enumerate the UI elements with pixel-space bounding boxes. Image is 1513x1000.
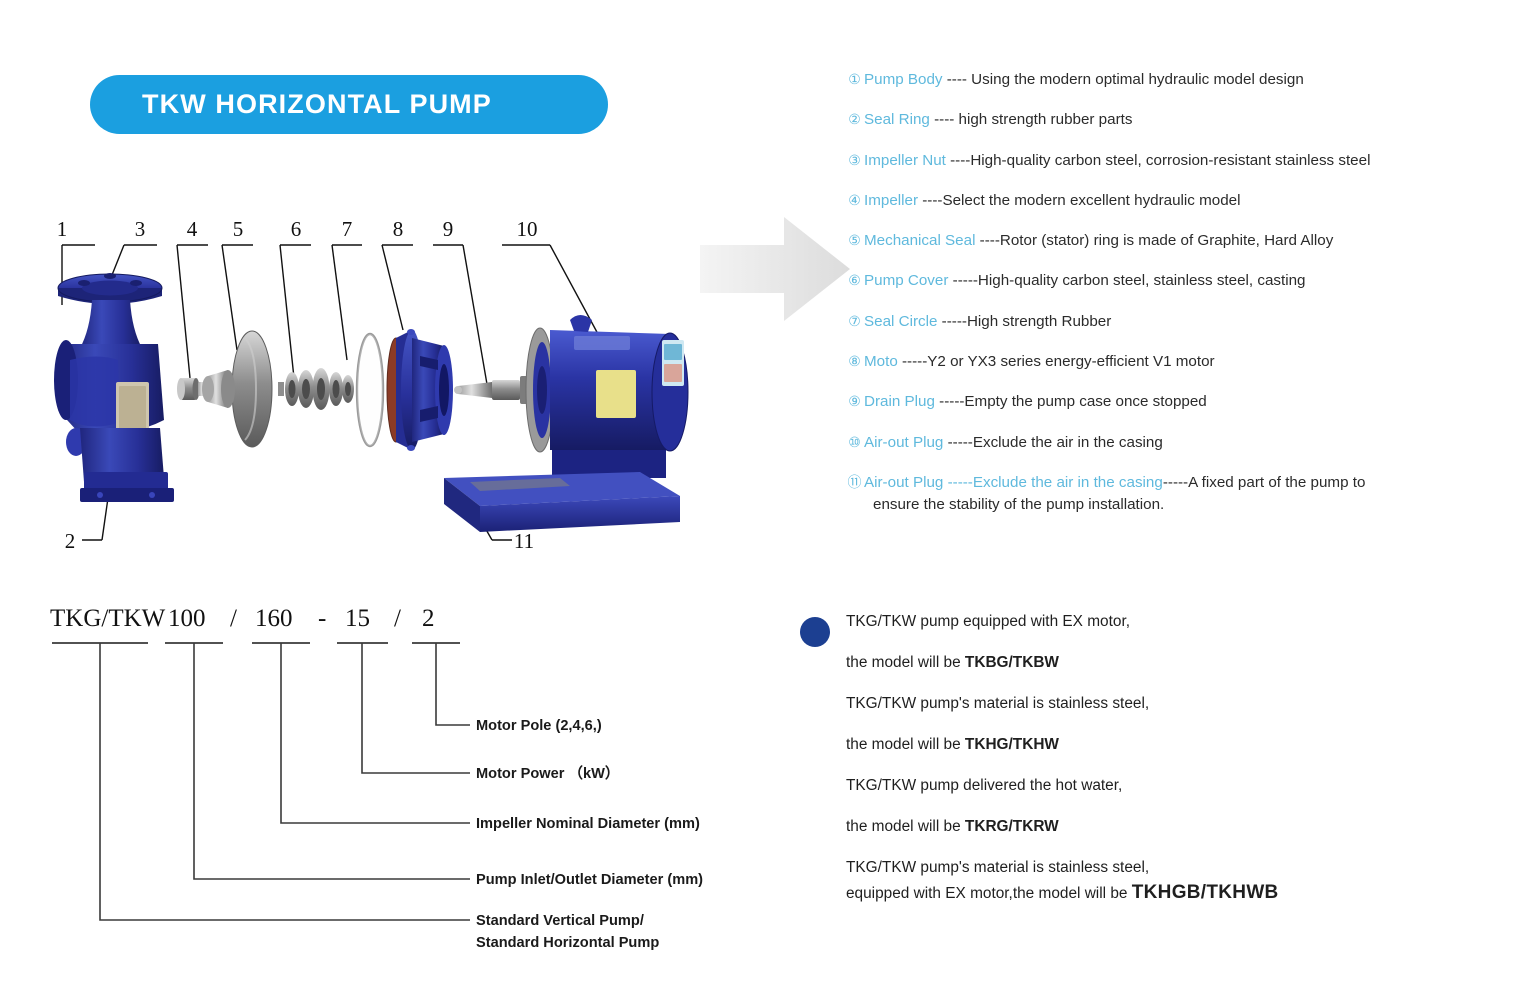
mechanical-seal-part: [278, 368, 354, 410]
pump-cover-part: [387, 329, 453, 451]
model-token-pole: 2: [422, 605, 435, 632]
legend-item: ⑦Seal Circle -----High strength Rubber: [845, 312, 1505, 331]
legend-part-desc: -----High strength Rubber: [937, 313, 1111, 330]
legend-part-desc: -----High-quality carbon steel, stainles…: [948, 272, 1305, 289]
legend-item: ⑪Air-out Plug -----Exclude the air in th…: [845, 473, 1505, 514]
note-text: TKG/TKW pump's material is stainless ste…: [846, 859, 1149, 876]
model-variants-notes: TKG/TKW pump equipped with EX motor, the…: [800, 612, 1440, 903]
legend-part-desc: ----Rotor (stator) ring is made of Graph…: [975, 232, 1333, 249]
legend-part-name: Impeller Nut: [864, 152, 946, 169]
legend-number: ⑩: [845, 433, 864, 452]
legend-item: ⑤Mechanical Seal ----Rotor (stator) ring…: [845, 231, 1505, 250]
model-label-motor-pole: Motor Pole (2,4,6,): [476, 718, 602, 734]
model-label-inlet-diameter: Pump Inlet/Outlet Diameter (mm): [476, 872, 703, 888]
page-title-banner: TKW HORIZONTAL PUMP: [90, 75, 608, 134]
callout-label-2: 2: [65, 529, 76, 553]
callout-label-7: 7: [342, 217, 353, 241]
callout-4: [177, 245, 208, 378]
legend-item: ④Impeller ----Select the modern excellen…: [845, 191, 1505, 210]
model-label-standard-pump-1: Standard Vertical Pump/: [476, 913, 644, 929]
legend-part-desc: ----High-quality carbon steel, corrosion…: [946, 152, 1371, 169]
model-token-slash2: /: [394, 605, 401, 632]
legend-part-name: Drain Plug: [864, 393, 935, 410]
model-code-breakdown: TKG/TKW 100 / 160 - 15 / 2: [40, 598, 740, 968]
model-token-power: 15: [345, 605, 370, 632]
callout-6: [280, 245, 311, 378]
legend-number: ④: [845, 191, 864, 210]
legend-part-desc: ---- Using the modern optimal hydraulic …: [943, 71, 1304, 88]
note-line: TKG/TKW pump delivered the hot water,: [846, 776, 1440, 795]
legend-item: ⑩Air-out Plug -----Exclude the air in th…: [845, 433, 1505, 452]
note-text: TKG/TKW pump's material is stainless ste…: [846, 695, 1149, 712]
model-code-leaders: [100, 643, 470, 920]
callout-label-1: 1: [57, 217, 68, 241]
right-arrow-icon: [700, 213, 852, 325]
model-token-impeller: 160: [255, 605, 293, 632]
callout-label-9: 9: [443, 217, 454, 241]
note-line: the model will be TKBG/TKBW: [846, 653, 1440, 672]
notes-body: TKG/TKW pump equipped with EX motor, the…: [846, 612, 1440, 903]
note-line: the model will be TKHG/TKHW: [846, 735, 1440, 754]
legend-part-name: Air-out Plug: [864, 434, 943, 451]
legend-number: ①: [845, 70, 864, 89]
exploded-pump-diagram: 1 3 4 5 6 7 8: [40, 210, 700, 560]
legend-part-name: Pump Body: [864, 71, 943, 88]
legend-item: ②Seal Ring ---- high strength rubber par…: [845, 110, 1505, 129]
note-text: the model will be: [846, 736, 965, 753]
legend-part-name: Moto: [864, 353, 898, 370]
model-label-motor-power: Motor Power （kW）: [476, 764, 620, 782]
legend-number: ⑤: [845, 231, 864, 250]
legend-number: ⑦: [845, 312, 864, 331]
note-line: equipped with EX motor,the model will be…: [846, 883, 1440, 903]
legend-part-name: Seal Circle: [864, 313, 937, 330]
note-text: TKG/TKW pump equipped with EX motor,: [846, 613, 1130, 630]
seal-circle-part: [357, 334, 383, 446]
model-token-slash1: /: [230, 605, 237, 632]
callout-label-8: 8: [393, 217, 404, 241]
note-line: the model will be TKRG/TKRW: [846, 817, 1440, 836]
legend-part-name: Mechanical Seal: [864, 232, 975, 249]
legend-item: ⑥Pump Cover -----High-quality carbon ste…: [845, 271, 1505, 290]
note-model-name: TKRG/TKRW: [965, 818, 1059, 835]
legend-number: ⑨: [845, 392, 864, 411]
note-line: TKG/TKW pump equipped with EX motor,: [846, 612, 1440, 631]
legend-part-desc: -----A fixed part of the pump to: [1163, 474, 1366, 491]
legend-part-name: Air-out Plug: [864, 474, 943, 491]
legend-part-desc-blue: -----Exclude the air in the casing: [943, 474, 1162, 491]
legend-item: ⑧Moto -----Y2 or YX3 series energy-effic…: [845, 352, 1505, 371]
legend-number: ⑥: [845, 271, 864, 290]
legend-part-desc: ---- high strength rubber parts: [930, 111, 1133, 128]
parts-legend-list: ①Pump Body ---- Using the modern optimal…: [845, 70, 1505, 535]
model-token-inlet: 100: [168, 605, 206, 632]
legend-part-desc: -----Exclude the air in the casing: [943, 434, 1162, 451]
callout-label-4: 4: [187, 217, 198, 241]
legend-part-name: Impeller: [864, 192, 918, 209]
legend-item: ⑨Drain Plug -----Empty the pump case onc…: [845, 392, 1505, 411]
note-text: TKG/TKW pump delivered the hot water,: [846, 777, 1122, 794]
motor-shaft-part: [454, 376, 536, 404]
legend-part-desc-line2: ensure the stability of the pump install…: [873, 495, 1505, 514]
legend-part-name: Seal Ring: [864, 111, 930, 128]
bullet-dot-icon: [800, 617, 830, 647]
callout-label-5: 5: [233, 217, 244, 241]
model-label-standard-pump-2: Standard Horizontal Pump: [476, 935, 659, 951]
callout-label-6: 6: [291, 217, 302, 241]
base-plate-part: [444, 472, 680, 532]
page-title: TKW HORIZONTAL PUMP: [142, 89, 492, 120]
note-model-name: TKBG/TKBW: [965, 654, 1059, 671]
callout-label-10: 10: [517, 217, 538, 241]
note-text: the model will be: [846, 654, 965, 671]
legend-number: ③: [845, 151, 864, 170]
legend-number: ②: [845, 110, 864, 129]
legend-number: ⑪: [845, 473, 864, 492]
motor-part: [526, 315, 688, 478]
note-line: TKG/TKW pump's material is stainless ste…: [846, 858, 1440, 877]
pump-body-part: [54, 273, 174, 502]
callout-label-3: 3: [135, 217, 146, 241]
model-label-impeller-diameter: Impeller Nominal Diameter (mm): [476, 816, 700, 832]
callout-8: [382, 245, 413, 330]
note-text: equipped with EX motor,the model will be: [846, 885, 1132, 902]
model-token-dash: -: [318, 605, 326, 632]
legend-item: ③Impeller Nut ----High-quality carbon st…: [845, 151, 1505, 170]
note-line: TKG/TKW pump's material is stainless ste…: [846, 694, 1440, 713]
legend-item: ①Pump Body ---- Using the modern optimal…: [845, 70, 1505, 89]
legend-part-desc: -----Empty the pump case once stopped: [935, 393, 1207, 410]
legend-number: ⑧: [845, 352, 864, 371]
legend-part-desc: ----Select the modern excellent hydrauli…: [918, 192, 1240, 209]
model-token-series: TKG/TKW: [50, 605, 166, 632]
callout-label-11: 11: [514, 529, 534, 553]
note-model-name: TKHGB/TKHWB: [1132, 882, 1279, 903]
note-text: the model will be: [846, 818, 965, 835]
legend-part-name: Pump Cover: [864, 272, 948, 289]
product-spec-page: TKW HORIZONTAL PUMP: [0, 0, 1513, 1000]
legend-part-desc: -----Y2 or YX3 series energy-efficient V…: [898, 353, 1215, 370]
note-model-name: TKHG/TKHW: [965, 736, 1059, 753]
callout-7: [332, 245, 362, 360]
